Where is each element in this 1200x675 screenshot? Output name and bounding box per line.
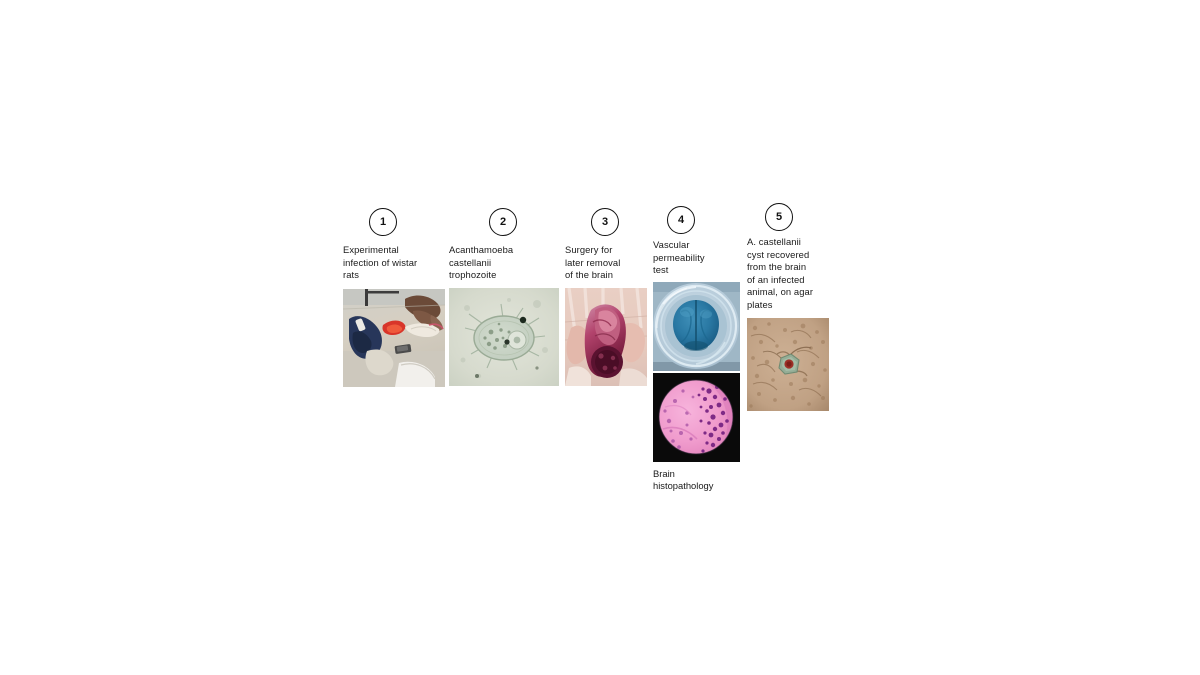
photo-brain-histopathology — [653, 373, 740, 462]
workflow-step-1: 1 Experimental infection of wistar rats — [343, 208, 445, 387]
photo-brain-removal-surgery — [565, 288, 647, 386]
figure-workflow-diagram: 1 Experimental infection of wistar rats — [0, 0, 1200, 675]
step-number-badge-3: 3 — [591, 208, 619, 236]
step-caption-4: Vascular permeability test — [653, 239, 740, 277]
step-number-badge-4: 4 — [667, 206, 695, 234]
step-sub-caption-4: Brain histopathology — [653, 468, 740, 493]
step-caption-3: Surgery for later removal of the brain — [565, 244, 647, 282]
photo-acanthamoeba-trophozoite — [449, 288, 559, 386]
step-caption-5: A. castellanii cyst recovered from the b… — [747, 236, 831, 312]
workflow-step-2: 2 Acanthamoeba castellanii trophozoite — [449, 208, 559, 386]
photo-experimental-infection-of-rat — [343, 289, 445, 387]
step-number-badge-1: 1 — [369, 208, 397, 236]
step-number-badge-2: 2 — [489, 208, 517, 236]
step-number-badge-5: 5 — [765, 203, 793, 231]
photo-acanthamoeba-cyst-on-agar — [747, 318, 829, 411]
step-caption-1: Experimental infection of wistar rats — [343, 244, 445, 282]
workflow-step-4: 4 Vascular permeability test — [653, 206, 740, 493]
step-caption-2: Acanthamoeba castellanii trophozoite — [449, 244, 559, 282]
workflow-step-3: 3 Surgery for later removal of the brain — [565, 208, 647, 386]
photo-evans-blue-brain-petri-dish — [653, 282, 740, 371]
workflow-step-5: 5 A. castellanii cyst recovered from the… — [747, 203, 831, 411]
